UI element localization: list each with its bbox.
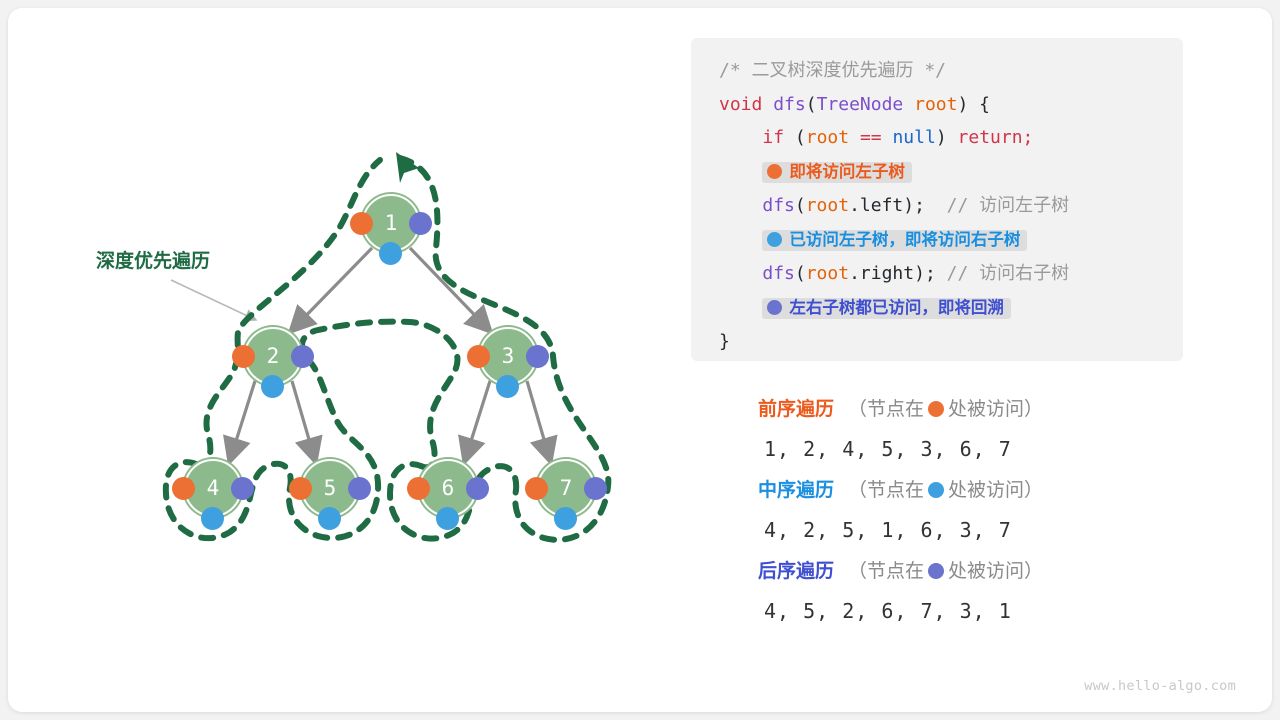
code-call-left-paren: (: [795, 195, 806, 216]
order-title-preorder: 前序遍历: [758, 399, 834, 420]
tree-node-1[interactable]: 1: [362, 194, 420, 252]
order-title-inorder: 中序遍历: [758, 480, 834, 501]
node-inorder-dot: [379, 242, 402, 265]
tree-node-7[interactable]: 7: [537, 459, 595, 517]
order-block-postorder: 后序遍历（节点在处被访问） 4, 5, 2, 6, 7, 3, 1: [758, 555, 1188, 634]
code-operator-eq: ==: [860, 127, 882, 148]
order-note-after: 处被访问）: [948, 561, 1043, 582]
postorder-dot-icon: [928, 563, 944, 579]
code-keyword-if: if: [762, 127, 784, 148]
order-sequence-postorder: 4, 5, 2, 6, 7, 3, 1: [758, 588, 1188, 634]
order-block-preorder: 前序遍历（节点在处被访问） 1, 2, 4, 5, 3, 6, 7: [758, 393, 1188, 472]
code-call-right-paren: (: [795, 263, 806, 284]
code-block: /* 二叉树深度优先遍历 */ void dfs(TreeNode root) …: [719, 54, 1069, 359]
preorder-dot-icon: [928, 401, 944, 417]
annotation-inorder-text: 已访问左子树，即将访问右子树: [789, 231, 1020, 249]
order-block-inorder: 中序遍历（节点在处被访问） 4, 2, 5, 1, 6, 3, 7: [758, 474, 1188, 553]
code-call-right-tail: );: [914, 263, 936, 284]
node-postorder-dot: [348, 477, 371, 500]
play-marker-icon: [396, 152, 419, 183]
order-heading: 前序遍历（节点在处被访问）: [758, 393, 1188, 426]
node-preorder-dot: [350, 212, 373, 235]
inorder-dot-icon: [767, 232, 782, 247]
order-title-postorder: 后序遍历: [758, 561, 834, 582]
code-paren-open: (: [806, 94, 817, 115]
node-preorder-dot: [407, 477, 430, 500]
watermark: www.hello-algo.com: [1084, 678, 1236, 694]
postorder-dot-icon: [767, 300, 782, 315]
annotation-inorder: 已访问左子树，即将访问右子树: [762, 230, 1027, 251]
order-note-before: （节点在: [848, 480, 924, 501]
code-closing-brace: }: [719, 331, 730, 352]
code-panel: /* 二叉树深度优先遍历 */ void dfs(TreeNode root) …: [691, 38, 1183, 361]
annotation-postorder: 左右子树都已访问，即将回溯: [762, 298, 1011, 319]
node-postorder-dot: [584, 477, 607, 500]
code-call-left-prop: .left: [849, 195, 903, 216]
tree-node-3[interactable]: 3: [479, 327, 537, 385]
node-inorder-dot: [436, 507, 459, 530]
order-note-inorder: （节点在处被访问）: [848, 480, 1043, 501]
content-card: 1 2 3 4: [8, 8, 1272, 712]
node-preorder-dot: [289, 477, 312, 500]
tree-node-5[interactable]: 5: [301, 459, 359, 517]
node-preorder-dot: [525, 477, 548, 500]
tree-diagram: 1 2 3 4: [8, 8, 668, 712]
annotation-preorder-text: 即将访问左子树: [789, 163, 905, 181]
order-sequence-preorder: 1, 2, 4, 5, 3, 6, 7: [758, 426, 1188, 472]
order-heading: 后序遍历（节点在处被访问）: [758, 555, 1188, 588]
node-preorder-dot: [232, 345, 255, 368]
code-literal-null: null: [892, 127, 935, 148]
node-inorder-dot: [496, 375, 519, 398]
tree-node-2[interactable]: 2: [244, 327, 302, 385]
code-comment-header: /* 二叉树深度优先遍历 */: [719, 60, 946, 81]
traversal-orders: 前序遍历（节点在处被访问） 1, 2, 4, 5, 3, 6, 7 中序遍历（节…: [758, 393, 1188, 636]
tree-svg: [8, 8, 668, 712]
annotation-postorder-text: 左右子树都已访问，即将回溯: [789, 299, 1004, 317]
node-preorder-dot: [172, 477, 195, 500]
node-preorder-dot: [467, 345, 490, 368]
order-heading: 中序遍历（节点在处被访问）: [758, 474, 1188, 507]
node-postorder-dot: [466, 477, 489, 500]
order-note-after: 处被访问）: [948, 399, 1043, 420]
tree-node-4[interactable]: 4: [184, 459, 242, 517]
code-call-right-fn: dfs: [762, 263, 795, 284]
order-note-preorder: （节点在处被访问）: [848, 399, 1043, 420]
code-paren-close-brace: ) {: [957, 94, 990, 115]
node-inorder-dot: [554, 507, 577, 530]
dfs-pointer-line: [171, 280, 256, 320]
code-arg-root: root: [914, 94, 957, 115]
node-postorder-dot: [291, 345, 314, 368]
code-call-left-tail: );: [903, 195, 925, 216]
code-if-paren-close: ): [936, 127, 947, 148]
node-inorder-dot: [201, 507, 224, 530]
order-note-after: 处被访问）: [948, 480, 1043, 501]
code-call-left-var: root: [806, 195, 849, 216]
inorder-dot-icon: [928, 482, 944, 498]
code-if-paren-open: (: [795, 127, 806, 148]
node-inorder-dot: [318, 507, 341, 530]
order-note-before: （节点在: [848, 399, 924, 420]
dfs-annotation-label: 深度优先遍历: [96, 246, 210, 273]
code-comment-left: // 访问左子树: [947, 195, 1070, 216]
code-keyword-return: return;: [958, 127, 1034, 148]
code-if-var-root: root: [806, 127, 849, 148]
node-inorder-dot: [261, 375, 284, 398]
tree-node-6[interactable]: 6: [419, 459, 477, 517]
code-call-right-prop: .right: [849, 263, 914, 284]
code-call-left-fn: dfs: [762, 195, 795, 216]
order-note-before: （节点在: [848, 561, 924, 582]
node-postorder-dot: [409, 212, 432, 235]
node-postorder-dot: [231, 477, 254, 500]
order-note-postorder: （节点在处被访问）: [848, 561, 1043, 582]
annotation-preorder: 即将访问左子树: [762, 162, 912, 183]
code-comment-right: // 访问右子树: [947, 263, 1070, 284]
node-postorder-dot: [526, 345, 549, 368]
code-keyword-void: void: [719, 94, 762, 115]
code-call-right-var: root: [806, 263, 849, 284]
code-function-name: dfs: [773, 94, 806, 115]
code-type-treenode: TreeNode: [817, 94, 904, 115]
order-sequence-inorder: 4, 2, 5, 1, 6, 3, 7: [758, 507, 1188, 553]
page-root: 1 2 3 4: [0, 0, 1280, 720]
preorder-dot-icon: [767, 164, 782, 179]
